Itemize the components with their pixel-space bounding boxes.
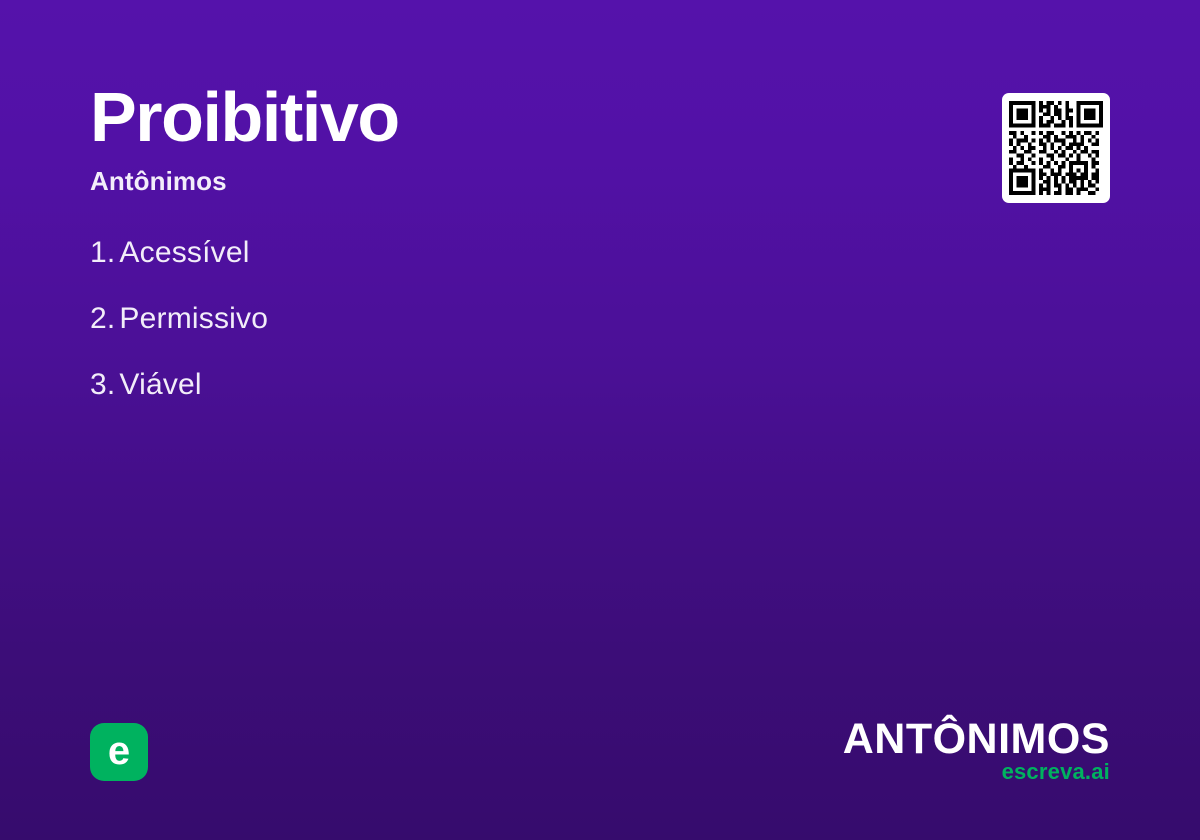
list-item-word: Permissivo bbox=[119, 302, 268, 335]
escreva-e-logo-icon[interactable]: e bbox=[90, 723, 148, 781]
brand-wordmark: ANTÔNIMOS escreva.ai bbox=[843, 719, 1110, 783]
wordmark-subtitle: escreva.ai bbox=[843, 761, 1110, 783]
list-item: 1.Acessível bbox=[90, 238, 850, 268]
antonym-list: 1.Acessível 2.Permissivo 3.Viável bbox=[90, 238, 850, 436]
list-item-index: 1. bbox=[90, 236, 115, 269]
brand-badge-letter: e bbox=[108, 731, 130, 771]
qr-code-panel[interactable] bbox=[1002, 93, 1110, 203]
list-item-index: 2. bbox=[90, 302, 115, 335]
antonyms-word-card: Proibitivo Antônimos 1.Acessível 2.Permi… bbox=[0, 0, 1200, 840]
list-item-index: 3. bbox=[90, 368, 115, 401]
list-item: 3.Viável bbox=[90, 370, 850, 400]
page-subtitle: Antônimos bbox=[90, 166, 850, 197]
headline-block: Proibitivo Antônimos bbox=[90, 82, 850, 197]
list-item: 2.Permissivo bbox=[90, 304, 850, 334]
wordmark-title: ANTÔNIMOS bbox=[843, 719, 1110, 759]
list-item-word: Viável bbox=[119, 368, 201, 401]
qr-code-icon bbox=[1009, 100, 1103, 196]
page-title: Proibitivo bbox=[90, 82, 850, 152]
list-item-word: Acessível bbox=[119, 236, 249, 269]
